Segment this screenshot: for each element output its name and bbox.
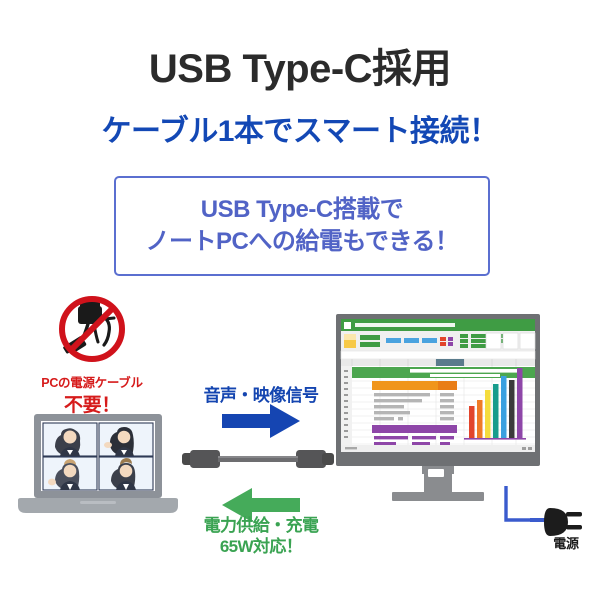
arrow-right-icon <box>222 404 300 443</box>
prohibition-ac-adapter-icon <box>47 292 137 370</box>
downstream-signal-label-line-1: 電力供給・充電 <box>185 515 337 536</box>
page-subtitle: ケーブル1本でスマート接続！ <box>0 106 600 150</box>
callout-line-2: ノートPCへの給電もできる！ <box>146 226 459 258</box>
desktop-monitor-icon <box>336 314 540 506</box>
infographic-canvas: USB Type-C採用 ケーブル1本でスマート接続！ USB Type-C搭載… <box>0 0 600 600</box>
callout-line-1: USB Type-C搭載で <box>201 194 403 226</box>
no-power-cable-group: PCの電源ケーブル 不要！ <box>22 292 162 417</box>
laptop-video-call-icon <box>12 412 184 520</box>
upstream-signal-label: 音声・映像信号 <box>188 381 334 406</box>
downstream-signal-label: 電力供給・充電 65W対応！ <box>185 515 337 557</box>
no-power-cable-caption-1: PCの電源ケーブル <box>22 372 162 391</box>
feature-callout-box: USB Type-C搭載で ノートPCへの給電もできる！ <box>114 176 490 276</box>
usb-c-cable-icon <box>182 446 334 477</box>
page-title: USB Type-C採用 <box>0 36 600 94</box>
power-plug-label: 電源 <box>536 533 596 552</box>
downstream-signal-label-line-2: 65W対応！ <box>185 536 337 557</box>
